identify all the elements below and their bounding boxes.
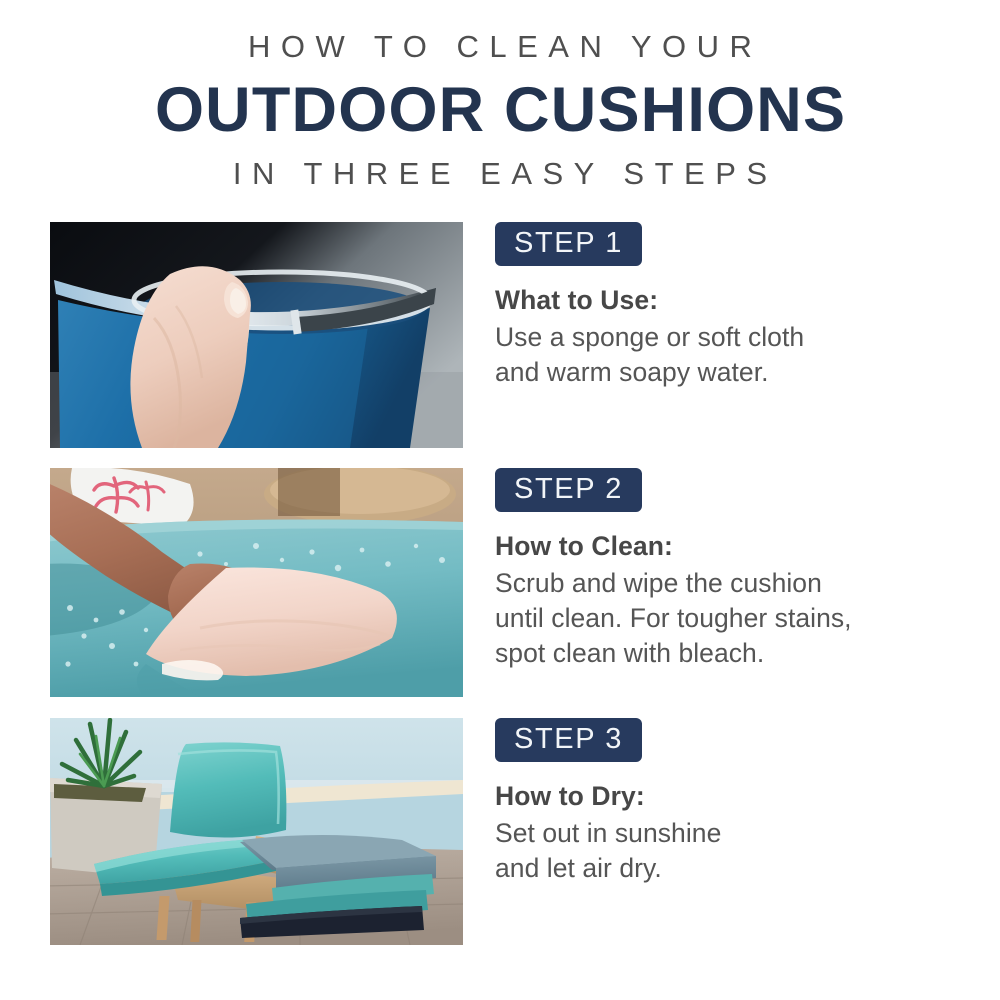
step-3-body: Set out in sunshine and let air dry. xyxy=(495,816,965,886)
step-1-body-line-2: and warm soapy water. xyxy=(495,355,965,390)
step-2-body-line-3: spot clean with bleach. xyxy=(495,636,965,671)
step-2-body-line-1: Scrub and wipe the cushion xyxy=(495,566,965,601)
step-1-body: Use a sponge or soft cloth and warm soap… xyxy=(495,320,965,390)
step-2-body-line-2: until clean. For tougher stains, xyxy=(495,601,965,636)
step-3-body-line-1: Set out in sunshine xyxy=(495,816,965,851)
infographic-page: HOW TO CLEAN YOUR OUTDOOR CUSHIONS IN TH… xyxy=(0,0,1000,1000)
step-1-badge: STEP 1 xyxy=(495,222,642,266)
step-1-text-block: STEP 1 What to Use: Use a sponge or soft… xyxy=(495,222,965,390)
photo-chaise-lounge-drying xyxy=(50,718,463,945)
step-row-2: STEP 2 How to Clean: Scrub and wipe the … xyxy=(0,468,1000,694)
step-1-body-line-1: Use a sponge or soft cloth xyxy=(495,320,965,355)
page-title: OUTDOOR CUSHIONS xyxy=(0,73,1000,147)
step-1-title: What to Use: xyxy=(495,285,965,317)
step-row-3: STEP 3 How to Dry: Set out in sunshine a… xyxy=(0,718,1000,944)
step-2-body: Scrub and wipe the cushion until clean. … xyxy=(495,566,965,671)
step-2-badge: STEP 2 xyxy=(495,468,642,512)
step-3-body-line-2: and let air dry. xyxy=(495,851,965,886)
step-3-text-block: STEP 3 How to Dry: Set out in sunshine a… xyxy=(495,718,965,886)
step-3-title: How to Dry: xyxy=(495,781,965,813)
photo-scrubbing-cushion xyxy=(50,468,463,697)
header-subline: IN THREE EASY STEPS xyxy=(0,157,1000,192)
step-2-text-block: STEP 2 How to Clean: Scrub and wipe the … xyxy=(495,468,965,671)
page-header: HOW TO CLEAN YOUR OUTDOOR CUSHIONS IN TH… xyxy=(0,0,1000,192)
step-row-1: STEP 1 What to Use: Use a sponge or soft… xyxy=(0,222,1000,448)
photo-bucket-with-cloth xyxy=(50,222,463,448)
step-3-badge: STEP 3 xyxy=(495,718,642,762)
header-eyebrow: HOW TO CLEAN YOUR xyxy=(0,30,1000,65)
step-2-title: How to Clean: xyxy=(495,531,965,563)
